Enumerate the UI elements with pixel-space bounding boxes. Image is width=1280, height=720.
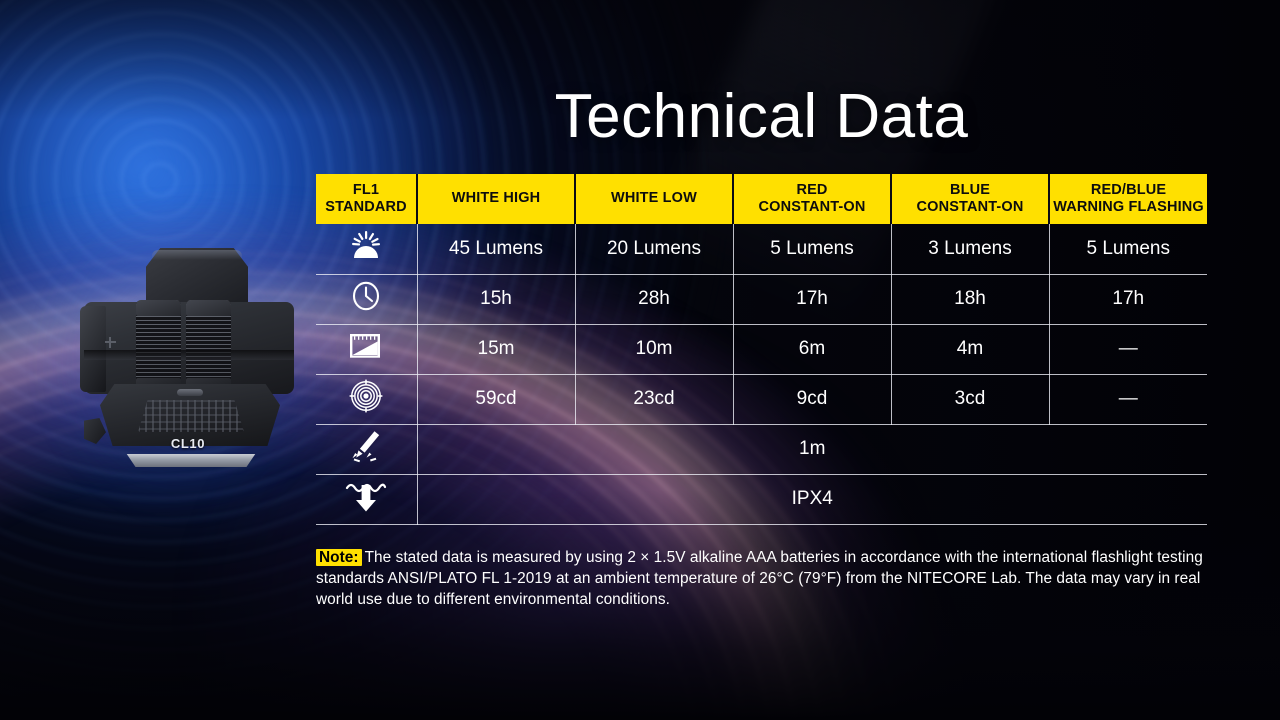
column-header-red-blue-line2: WARNING FLASHING <box>1053 199 1204 215</box>
cell-value: — <box>1049 374 1207 424</box>
note-text: The stated data is measured by using 2 ×… <box>316 549 1203 608</box>
column-header-white-high: WHITE HIGH <box>417 174 575 224</box>
runtime-clock-icon <box>350 280 382 318</box>
column-header-white-low: WHITE LOW <box>575 174 733 224</box>
column-header-red-line2: CONSTANT-ON <box>759 199 866 215</box>
cell-value: 9cd <box>733 374 891 424</box>
row-icon-cell-lumens <box>316 224 417 274</box>
cell-value-span: 1m <box>417 424 1207 474</box>
row-icon-cell-impact <box>316 424 417 474</box>
cell-value-span: IPX4 <box>417 474 1207 524</box>
column-header-red-constant-on: RED CONSTANT-ON <box>733 174 891 224</box>
cell-value: 3 Lumens <box>891 224 1049 274</box>
page-title: Technical Data <box>316 86 1207 148</box>
column-header-blue-line2: CONSTANT-ON <box>917 199 1024 215</box>
column-header-blue-line1: BLUE <box>950 182 990 198</box>
cell-value: 5 Lumens <box>733 224 891 274</box>
row-icon-cell-beam-distance <box>316 324 417 374</box>
cell-value: 15m <box>417 324 575 374</box>
cell-value: 17h <box>733 274 891 324</box>
column-header-white-high-line1: WHITE HIGH <box>452 190 541 206</box>
cell-value: 4m <box>891 324 1049 374</box>
column-header-fl1-line2: STANDARD <box>325 199 406 215</box>
column-header-red-blue-line1: RED/BLUE <box>1091 182 1166 198</box>
impact-resistance-icon <box>348 429 384 469</box>
column-header-white-low-line1: WHITE LOW <box>611 190 697 206</box>
cell-value: 23cd <box>575 374 733 424</box>
table-row: 1m <box>316 424 1207 474</box>
cell-value: 5 Lumens <box>1049 224 1207 274</box>
cell-value: 18h <box>891 274 1049 324</box>
technical-data-table: FL1 STANDARD WHITE HIGH WHITE LOW RED CO… <box>316 174 1207 525</box>
column-header-fl1: FL1 STANDARD <box>316 174 417 224</box>
column-header-red-blue-warning-flashing: RED/BLUE WARNING FLASHING <box>1049 174 1207 224</box>
cell-value: 10m <box>575 324 733 374</box>
column-header-fl1-line1: FL1 <box>353 182 379 198</box>
cell-value: 15h <box>417 274 575 324</box>
cell-value: 20 Lumens <box>575 224 733 274</box>
note-tag: Note: <box>316 549 362 566</box>
row-icon-cell-peak-beam <box>316 374 417 424</box>
lumens-sunburst-icon <box>346 231 386 267</box>
water-resistance-icon <box>345 479 387 519</box>
table-row: 15m 10m 6m 4m — <box>316 324 1207 374</box>
cell-value: 45 Lumens <box>417 224 575 274</box>
content-layer: Technical Data FL1 STANDARD WHITE HIGH W… <box>0 0 1280 720</box>
cell-value: 59cd <box>417 374 575 424</box>
beam-distance-icon <box>346 331 386 367</box>
peak-beam-target-icon <box>349 379 383 419</box>
cell-value: 3cd <box>891 374 1049 424</box>
row-icon-cell-water <box>316 474 417 524</box>
row-icon-cell-runtime <box>316 274 417 324</box>
column-header-red-line1: RED <box>796 182 827 198</box>
table-row: 59cd 23cd 9cd 3cd — <box>316 374 1207 424</box>
cell-value: 6m <box>733 324 891 374</box>
cell-value: — <box>1049 324 1207 374</box>
table-header-row: FL1 STANDARD WHITE HIGH WHITE LOW RED CO… <box>316 174 1207 224</box>
column-header-blue-constant-on: BLUE CONSTANT-ON <box>891 174 1049 224</box>
table-row: 15h 28h 17h 18h 17h <box>316 274 1207 324</box>
cell-value: 28h <box>575 274 733 324</box>
note-block: Note:The stated data is measured by usin… <box>316 547 1221 610</box>
cell-value: 17h <box>1049 274 1207 324</box>
table-row: IPX4 <box>316 474 1207 524</box>
table-row: 45 Lumens 20 Lumens 5 Lumens 3 Lumens 5 … <box>316 224 1207 274</box>
